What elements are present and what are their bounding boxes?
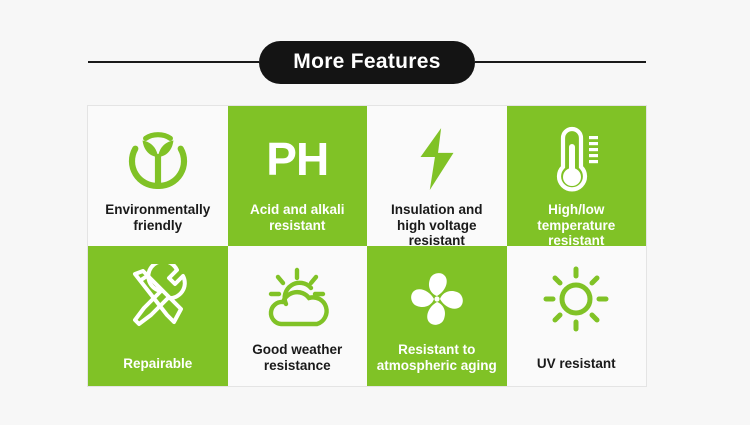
feature-label: Environmentally friendly [105,202,210,235]
fan-propeller-icon [401,260,473,338]
lightning-bolt-icon [411,120,463,198]
feature-label: High/low temperature resistant [537,202,615,246]
sun-behind-cloud-icon [259,260,335,338]
feature-label: Good weather resistance [252,342,342,375]
feature-label: Acid and alkali resistant [250,202,345,235]
feature-cell-uv-resistant[interactable]: UV resistant [507,246,647,386]
ph-text-icon: PH [266,120,328,198]
sprout-in-circle-icon [125,120,191,198]
feature-cell-acid-alkali-resistant[interactable]: PH Acid and alkali resistant [228,106,368,246]
section-header: More Features [88,40,646,84]
page-title: More Features [259,41,474,84]
header-rule-right [475,61,646,63]
sun-icon [542,260,610,338]
thermometer-icon [545,120,607,198]
feature-cell-insulation-high-voltage[interactable]: Insulation and high voltage resistant [367,106,507,246]
header-rule-left [88,61,259,63]
feature-label: Resistant to atmospheric aging [377,342,497,375]
feature-label: Repairable [123,356,192,374]
feature-cell-repairable[interactable]: Repairable [88,246,228,386]
ph-label: PH [266,136,328,182]
features-grid: Environmentally friendly PH Acid and alk… [88,106,646,386]
feature-cell-good-weather-resistance[interactable]: Good weather resistance [228,246,368,386]
feature-label: Insulation and high voltage resistant [391,202,483,246]
feature-cell-atmospheric-aging[interactable]: Resistant to atmospheric aging [367,246,507,386]
feature-cell-high-low-temperature[interactable]: High/low temperature resistant [507,106,647,246]
feature-label: UV resistant [537,356,616,374]
feature-cell-environmentally-friendly[interactable]: Environmentally friendly [88,106,228,246]
wrench-screwdriver-icon [123,260,193,338]
